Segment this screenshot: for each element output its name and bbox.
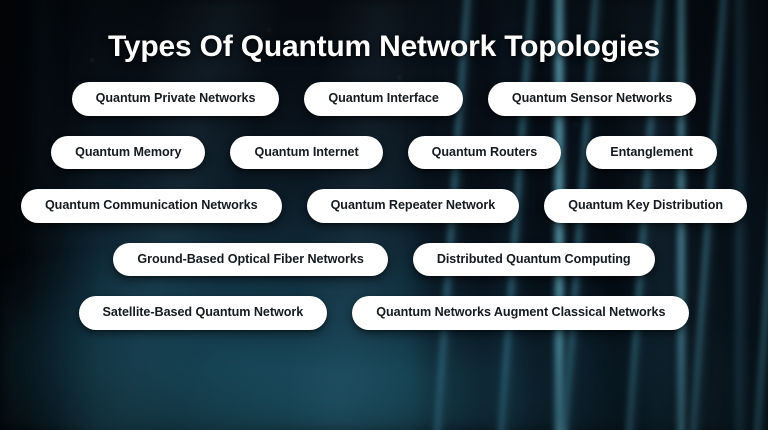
pill-row-5: Satellite-Based Quantum Network Quantum …	[10, 296, 758, 330]
pill-row-2: Quantum Memory Quantum Internet Quantum …	[10, 136, 758, 170]
topology-pill[interactable]: Quantum Routers	[408, 136, 562, 170]
pill-row-1: Quantum Private Networks Quantum Interfa…	[10, 82, 758, 116]
topology-pill[interactable]: Ground-Based Optical Fiber Networks	[113, 243, 387, 277]
infographic-content: Types Of Quantum Network Topologies Quan…	[0, 0, 768, 430]
pill-row-3: Quantum Communication Networks Quantum R…	[10, 189, 758, 223]
topology-pill[interactable]: Quantum Communication Networks	[21, 189, 282, 223]
topology-pill[interactable]: Quantum Sensor Networks	[488, 82, 697, 116]
topology-pill-grid: Quantum Private Networks Quantum Interfa…	[10, 82, 758, 330]
infographic-canvas: Types Of Quantum Network Topologies Quan…	[0, 0, 768, 430]
topology-pill[interactable]: Quantum Internet	[230, 136, 382, 170]
topology-pill[interactable]: Quantum Key Distribution	[544, 189, 747, 223]
topology-pill[interactable]: Distributed Quantum Computing	[413, 243, 655, 277]
topology-pill[interactable]: Quantum Private Networks	[72, 82, 280, 116]
topology-pill[interactable]: Quantum Memory	[51, 136, 205, 170]
topology-pill[interactable]: Quantum Repeater Network	[307, 189, 520, 223]
topology-pill[interactable]: Satellite-Based Quantum Network	[79, 296, 328, 330]
topology-pill[interactable]: Quantum Networks Augment Classical Netwo…	[352, 296, 689, 330]
page-title: Types Of Quantum Network Topologies	[108, 0, 660, 63]
pill-row-4: Ground-Based Optical Fiber Networks Dist…	[10, 243, 758, 277]
topology-pill[interactable]: Entanglement	[586, 136, 717, 170]
topology-pill[interactable]: Quantum Interface	[304, 82, 462, 116]
